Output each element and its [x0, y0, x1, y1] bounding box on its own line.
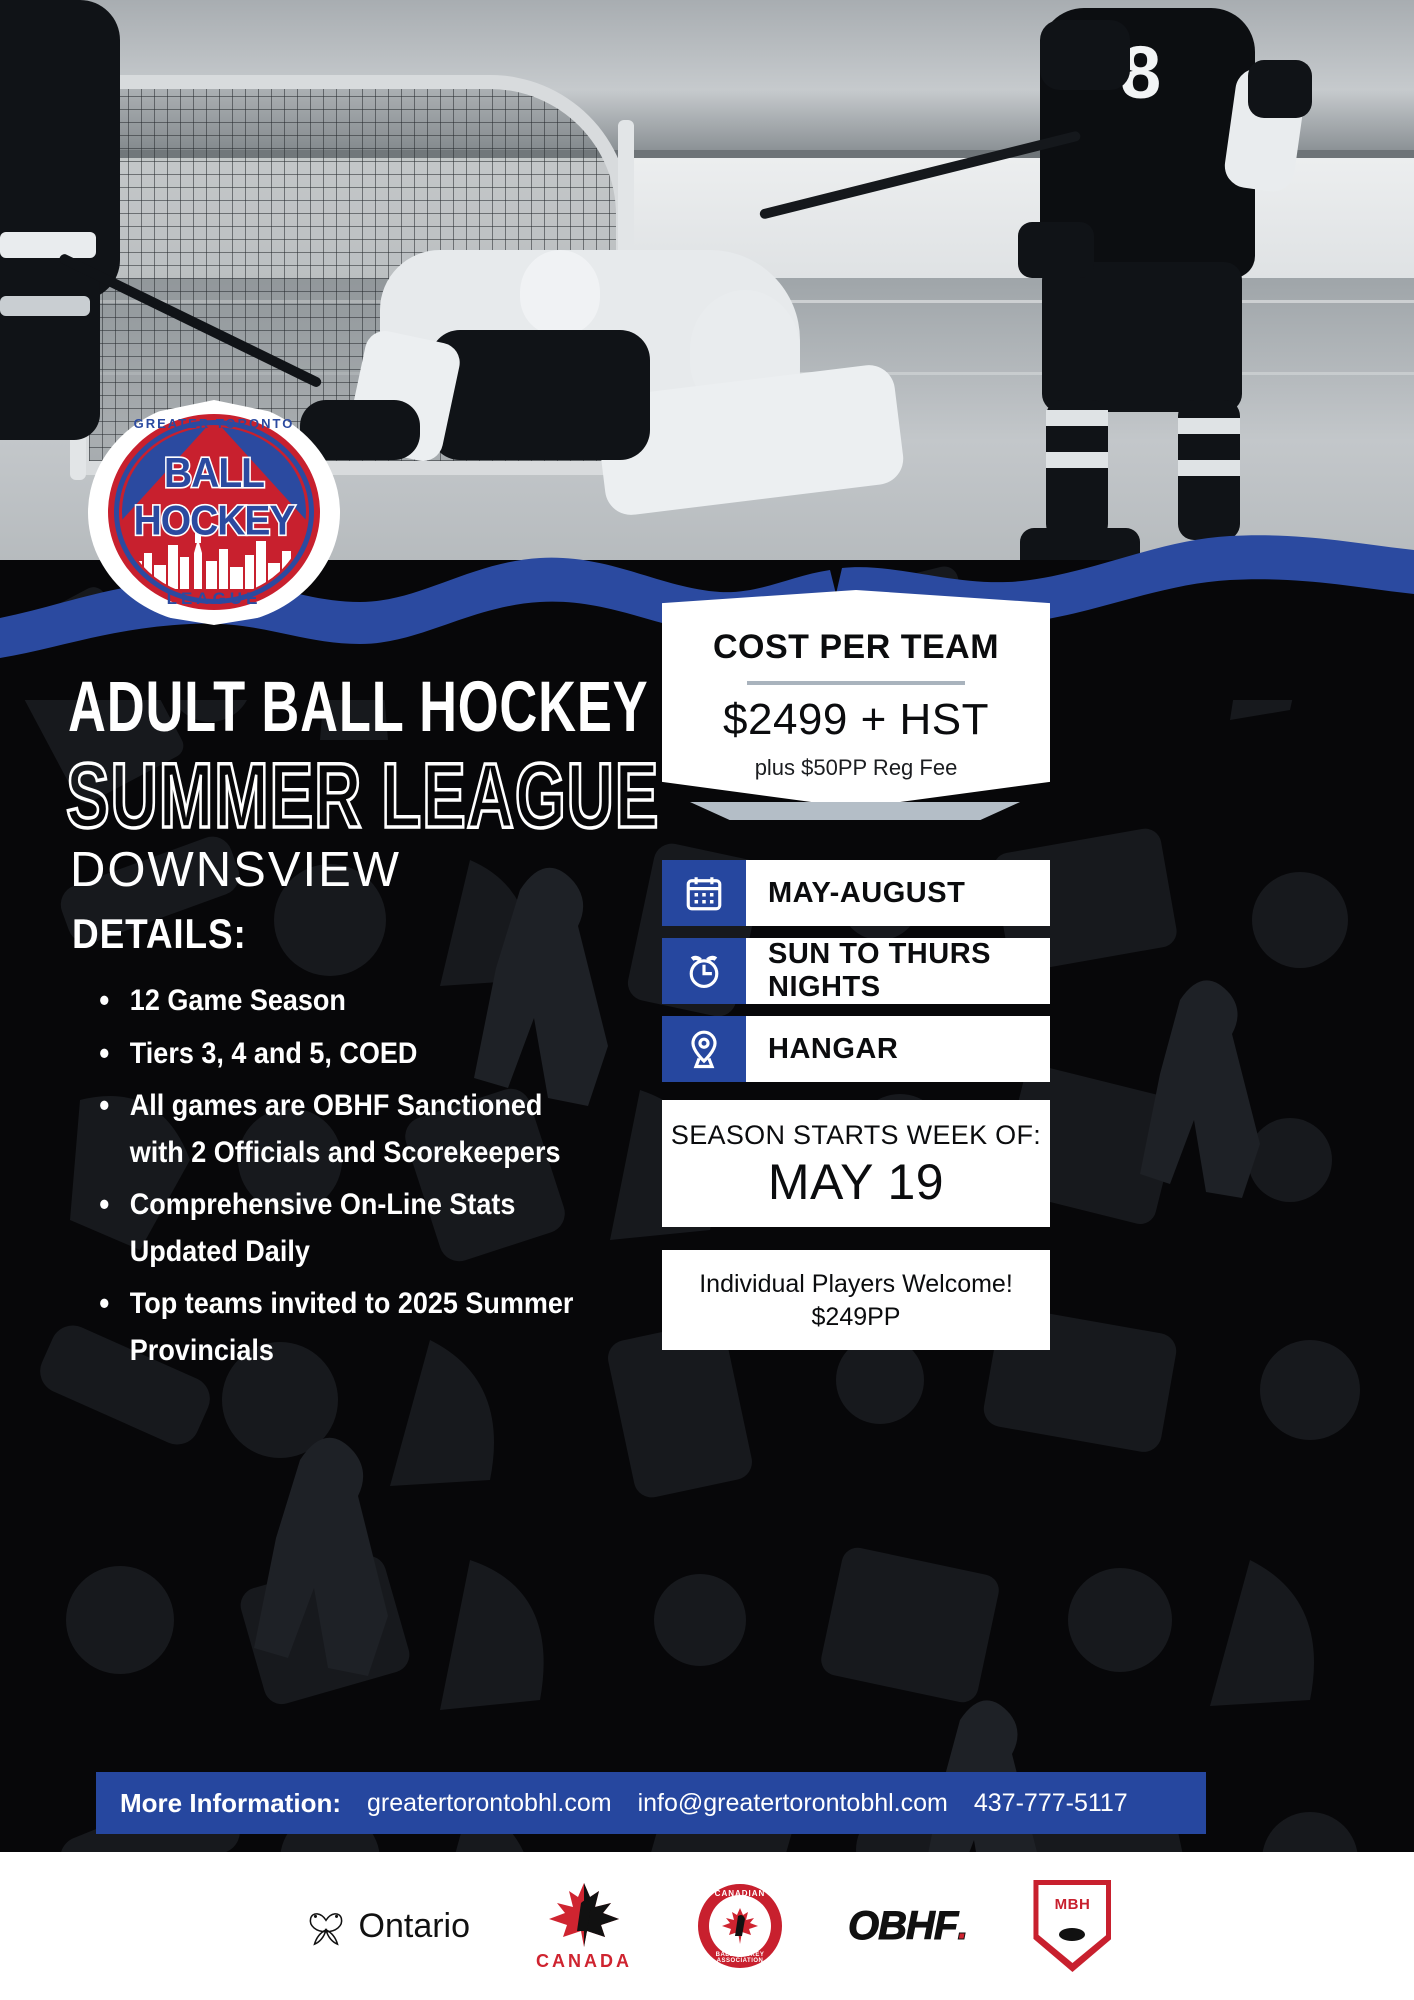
logo-top-text: GREATER TORONTO: [88, 416, 340, 431]
trillium-icon: [303, 1903, 349, 1949]
mbha-wordmark: MBH: [1033, 1896, 1111, 1913]
canada-wordmark: CANADA: [536, 1951, 632, 1972]
info-label-venue: HANGAR: [746, 1016, 1050, 1082]
cbha-maple-icon: [720, 1906, 760, 1946]
goalie-dark-pants: [430, 330, 650, 460]
cost-box-shadow: [690, 802, 1020, 820]
sock-stripe: [1046, 452, 1108, 468]
list-item: Comprehensive On-Line Stats Updated Dail…: [92, 1182, 596, 1275]
info-row-dates: MAY-AUGUST: [662, 860, 1050, 926]
contact-website[interactable]: greatertorontobhl.com: [367, 1789, 612, 1818]
headline-location: DOWNSVIEW: [70, 842, 401, 898]
obhf-wordmark: OBHF: [848, 1904, 957, 1949]
mbha-puck-icon: [1059, 1928, 1085, 1941]
info-row-nights: SUN TO THURS NIGHTS: [662, 938, 1050, 1004]
cost-title: COST PER TEAM: [662, 628, 1050, 667]
individual-line1: Individual Players Welcome!: [662, 1250, 1050, 1299]
contact-label: More Information:: [120, 1788, 341, 1819]
sock-stripe: [1046, 410, 1108, 426]
season-start-box: SEASON STARTS WEEK OF: MAY 19: [662, 1100, 1050, 1227]
player-right-glove: [1248, 60, 1312, 118]
info-label-nights: SUN TO THURS NIGHTS: [746, 938, 1050, 1004]
location-pin-icon: [662, 1016, 746, 1082]
cost-divider: [747, 681, 965, 685]
obhf-dot: .: [957, 1904, 967, 1949]
contact-bar: More Information: greatertorontobhl.com …: [96, 1772, 1206, 1834]
cbha-text-bottom: BALL HOCKEY ASSOCIATION: [698, 1952, 782, 1964]
list-item: 12 Game Season: [92, 978, 596, 1025]
cbha-logo: CANADIAN BALL HOCKEY ASSOCIATION: [698, 1884, 782, 1968]
cbha-text-top: CANADIAN: [698, 1889, 782, 1898]
ontario-logo: Ontario: [303, 1903, 471, 1949]
list-item: Top teams invited to 2025 Summer Provinc…: [92, 1281, 596, 1374]
season-date: MAY 19: [662, 1153, 1050, 1211]
logo-main-text: BALL HOCKEY: [88, 450, 340, 545]
ontario-wordmark: Ontario: [359, 1907, 471, 1946]
individual-players-box: Individual Players Welcome! $249PP: [662, 1250, 1050, 1350]
contact-email[interactable]: info@greatertorontobhl.com: [638, 1789, 948, 1818]
info-label-dates: MAY-AUGUST: [746, 860, 1050, 926]
hockey-canada-mark: [545, 1881, 623, 1947]
poster-root: 8: [0, 0, 1414, 2000]
info-row-venue: HANGAR: [662, 1016, 1050, 1082]
alarm-clock-icon: [662, 938, 746, 1004]
cost-price: $2499 + HST: [662, 695, 1050, 745]
sock-stripe: [1178, 418, 1240, 434]
cost-note: plus $50PP Reg Fee: [662, 755, 1050, 781]
list-item: All games are OBHF Sanctioned with 2 Off…: [92, 1083, 596, 1176]
headline-line1: ADULT BALL HOCKEY: [68, 665, 649, 748]
sponsor-row: Ontario CANADA CANADIAN BALL HOCKEY ASSO…: [0, 1852, 1414, 2000]
hockey-canada-logo: CANADA: [536, 1881, 632, 1972]
player-right-mitt: [1018, 222, 1094, 278]
logo-bottom-text: LEAGUE: [88, 589, 340, 609]
calendar-icon: [662, 860, 746, 926]
gtbhl-logo: GREATER TORONTO BALL HOCKEY LEAGUE: [88, 400, 340, 625]
sock-stripe: [1178, 460, 1240, 476]
player-left-stripe2: [0, 296, 90, 316]
details-heading: DETAILS:: [72, 910, 247, 958]
cost-per-team-box: COST PER TEAM $2499 + HST plus $50PP Reg…: [662, 590, 1050, 808]
details-list: 12 Game Season Tiers 3, 4 and 5, COED Al…: [92, 978, 652, 1380]
headline-line2: SUMMER LEAGUE: [66, 742, 659, 849]
individual-line2: $249PP: [662, 1303, 1050, 1332]
obhf-logo: OBHF.: [848, 1904, 967, 1949]
mbha-logo: MBH: [1033, 1880, 1111, 1972]
goalie-helmet: [520, 250, 600, 335]
season-label: SEASON STARTS WEEK OF:: [662, 1100, 1050, 1151]
player-right-shorts: [1042, 262, 1242, 412]
player-left-stripe: [0, 232, 96, 258]
contact-phone[interactable]: 437-777-5117: [974, 1789, 1128, 1818]
player-left-legs: [0, 260, 100, 440]
player-right-helmet: [1040, 20, 1130, 90]
list-item: Tiers 3, 4 and 5, COED: [92, 1031, 596, 1078]
